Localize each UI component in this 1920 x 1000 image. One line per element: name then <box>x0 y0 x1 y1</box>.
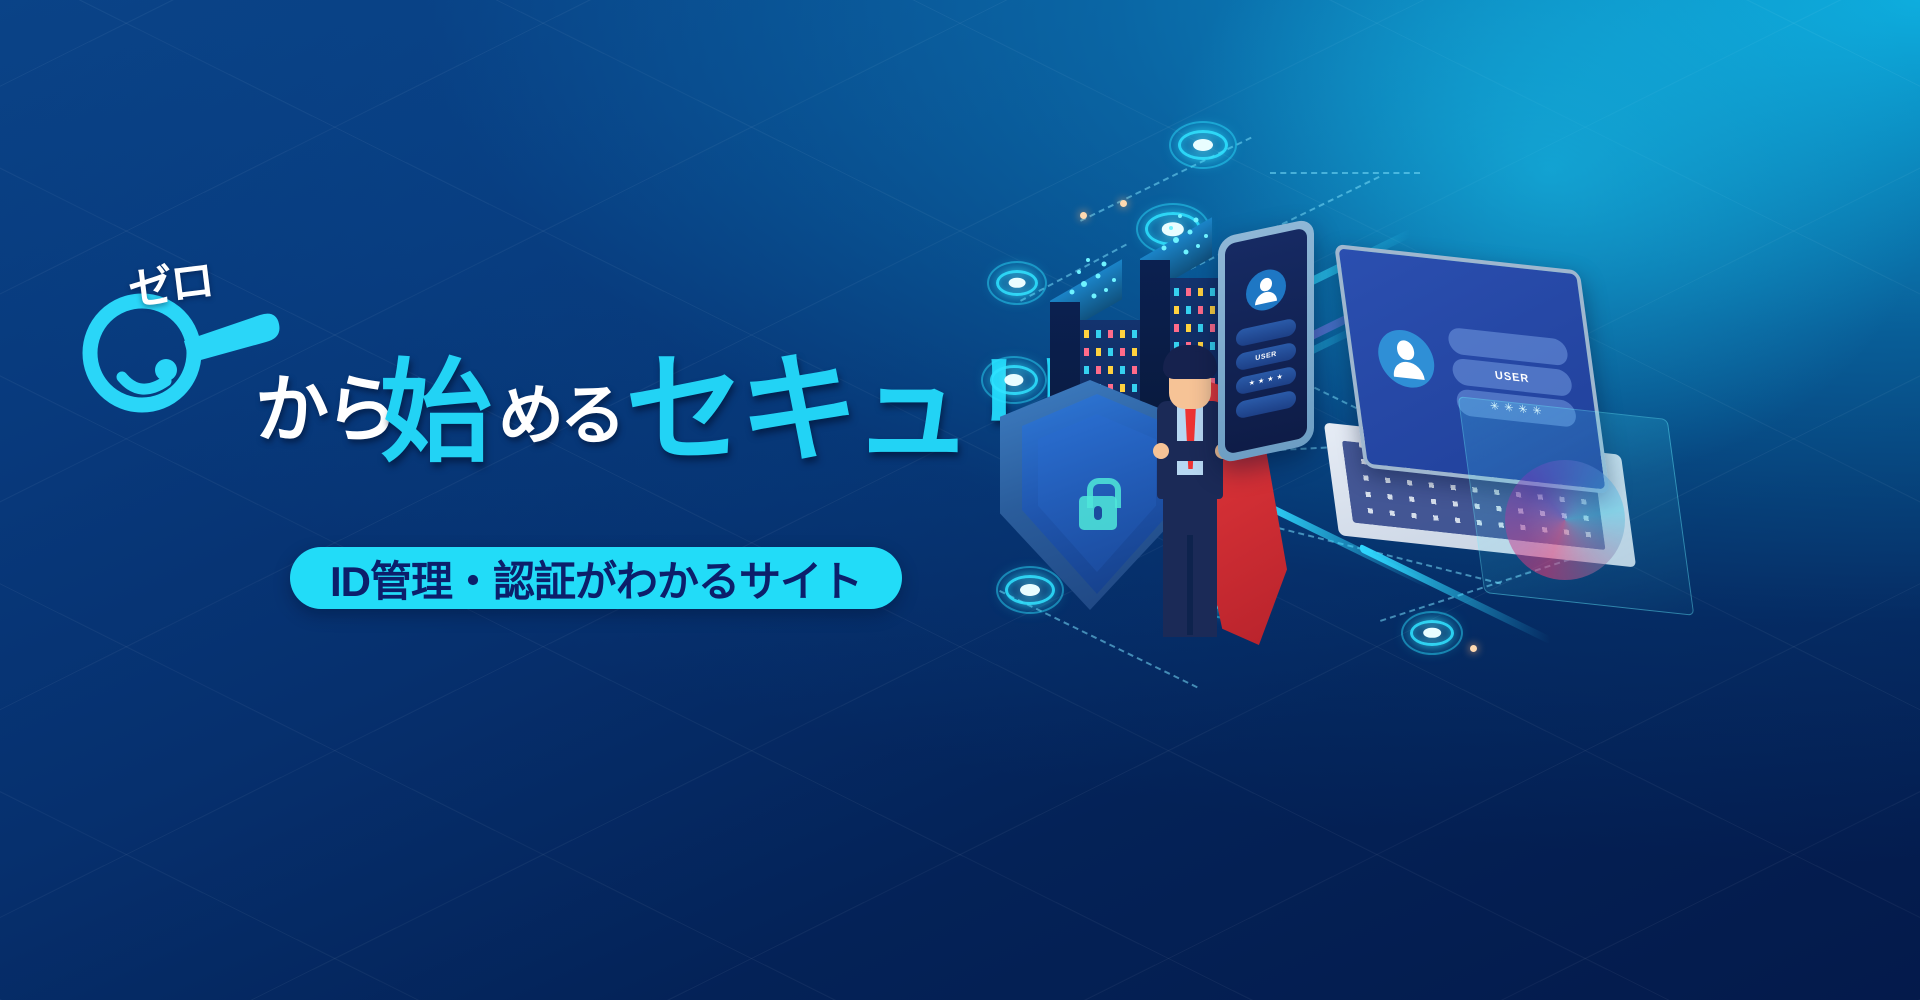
network-node <box>996 270 1038 296</box>
phone-password-value: ★ ★ ★ ★ <box>1249 373 1283 387</box>
network-spark-dot <box>1470 645 1477 652</box>
title-segment-hajime: 始 <box>380 322 486 484</box>
network-node <box>1410 620 1454 646</box>
illustration-isometric-security: USER ★ ★ ★ ★ USER <box>960 150 1920 710</box>
fingerprint-scan-icon <box>1505 460 1625 580</box>
user-avatar-icon <box>1246 266 1286 315</box>
hero-hand <box>1153 443 1169 459</box>
hero-banner: ゼロ から 始 める セキュリティ ID管理・認証がわかるサイト <box>0 0 1920 1000</box>
hero-folded-arms <box>1161 441 1223 461</box>
phone-field-blank-bottom[interactable] <box>1236 390 1296 420</box>
subtitle-pill-label: ID管理・認証がわかるサイト <box>330 548 862 609</box>
hero-leg-gap <box>1187 535 1193 635</box>
network-spark-dot <box>1120 200 1127 207</box>
lock-keyhole <box>1094 506 1102 520</box>
headline-block: ゼロ から 始 める セキュリティ ID管理・認証がわかるサイト <box>80 250 980 550</box>
phone-user-field-label: USER <box>1255 351 1276 363</box>
network-line <box>1270 172 1420 174</box>
title-segment-kara: から <box>255 350 395 457</box>
network-spark-dot <box>1080 212 1087 219</box>
title-segment-meru: める <box>498 362 622 458</box>
user-avatar-icon <box>1375 327 1438 390</box>
smartphone-login-device[interactable]: USER ★ ★ ★ ★ <box>1218 218 1314 464</box>
network-node <box>1178 130 1228 160</box>
page-title: から 始 める セキュリティ <box>80 250 980 550</box>
laptop-user-field-label: USER <box>1494 369 1530 385</box>
laptop-login-device[interactable]: USER ✳ ✳ ✳ ✳ <box>1330 260 1660 590</box>
subtitle-pill[interactable]: ID管理・認証がわかるサイト <box>290 547 902 609</box>
smartphone-screen: USER ★ ★ ★ ★ <box>1225 227 1307 454</box>
